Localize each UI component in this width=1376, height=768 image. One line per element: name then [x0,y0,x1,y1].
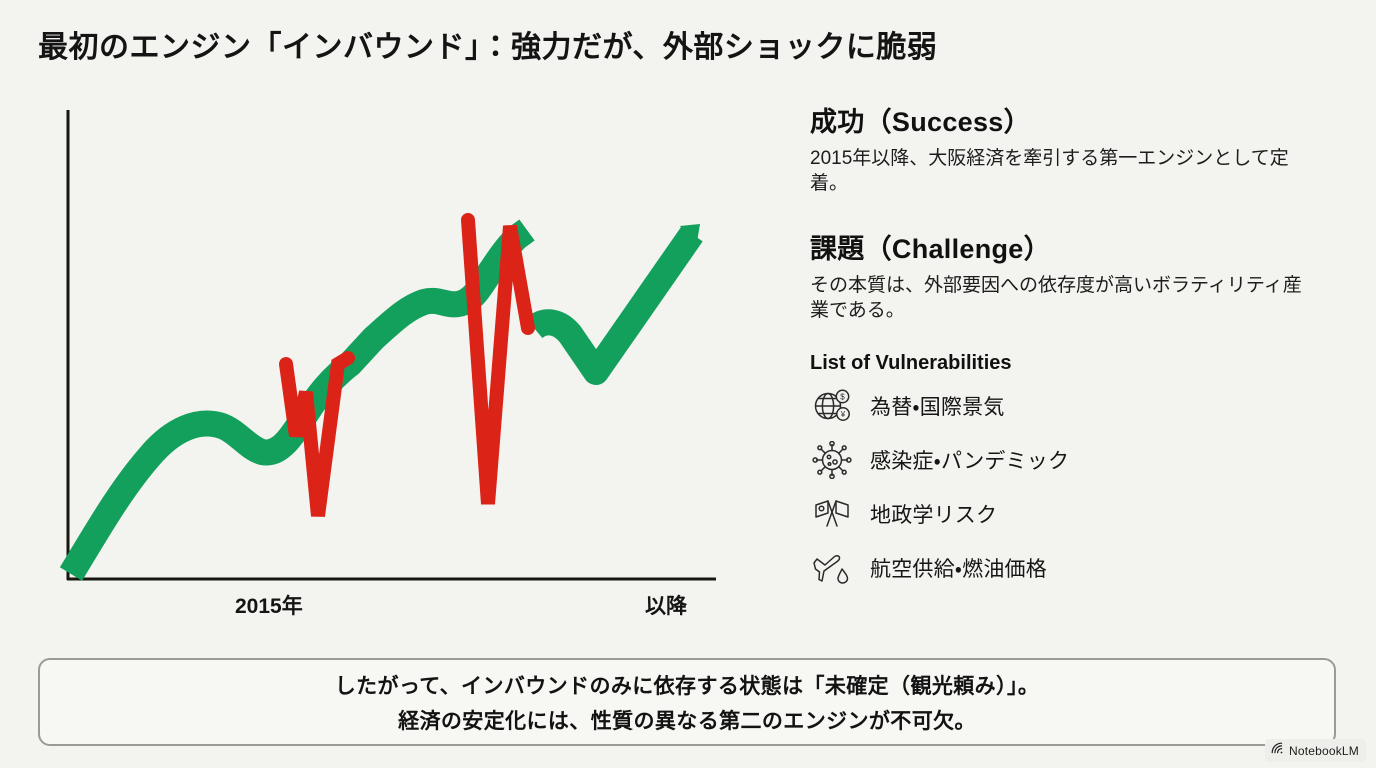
airplane-fuel-icon [810,547,854,589]
list-item-label: 感染症・パンデミック [870,445,1069,475]
list-item-label: 航空供給・燃油価格 [870,553,1047,583]
list-item: 感染症・パンデミック [810,433,1330,487]
notebooklm-watermark: NotebookLM [1265,739,1366,762]
svg-text:$: $ [840,392,845,401]
chart-xtick-2015: 2015年 [235,590,303,620]
vulnerabilities-heading: List of Vulnerabilities [810,352,1330,375]
callout-line-1: したがって、インバウンドのみに依存する状態は「未確定（観光頼み）」。 [335,670,1040,700]
success-heading: 成功（Success） [810,100,1330,139]
slide-root: 最初のエンジン「インバウンド」：強力だが、外部ショックに脆弱 2015年 以降 … [0,0,1376,768]
list-item-label: 為替・国際景気 [870,391,1005,421]
chart-canvas [40,96,760,636]
notebooklm-icon [1270,741,1284,760]
challenge-heading: 課題（Challenge） [810,227,1330,266]
list-item: 航空供給・燃油価格 [810,541,1330,595]
conclusion-callout: したがって、インバウンドのみに依存する状態は「未確定（観光頼み）」。 経済の安定… [38,658,1336,746]
callout-line-2: 経済の安定化には、性質の異なる第二のエンジンが不可欠。 [398,705,976,735]
growth-shock-chart: 2015年 以降 [40,96,760,636]
crossed-flags-icon [810,493,854,535]
list-item: 地政学リスク [810,487,1330,541]
success-body: 2015年以降、大阪経済を牽引する第一エンジンとして定着。 [810,146,1310,197]
challenge-body: その本質は、外部要因への依存度が高いボラティリティ産業である。 [810,273,1310,324]
globe-currency-icon: $ ¥ [810,385,854,427]
vulnerabilities-list: $ ¥ 為替・国際景気 [810,379,1330,595]
chart-xtick-after: 以降 [645,590,687,620]
list-item: $ ¥ 為替・国際景気 [810,379,1330,433]
chart-growth-line-segment-2 [534,234,692,372]
details-column: 成功（Success） 2015年以降、大阪経済を牽引する第一エンジンとして定着… [810,100,1330,595]
list-item-label: 地政学リスク [870,499,997,529]
virus-icon [810,439,854,481]
notebooklm-label: NotebookLM [1289,744,1359,758]
page-title: 最初のエンジン「インバウンド」：強力だが、外部ショックに脆弱 [38,22,937,66]
svg-text:¥: ¥ [840,410,846,419]
